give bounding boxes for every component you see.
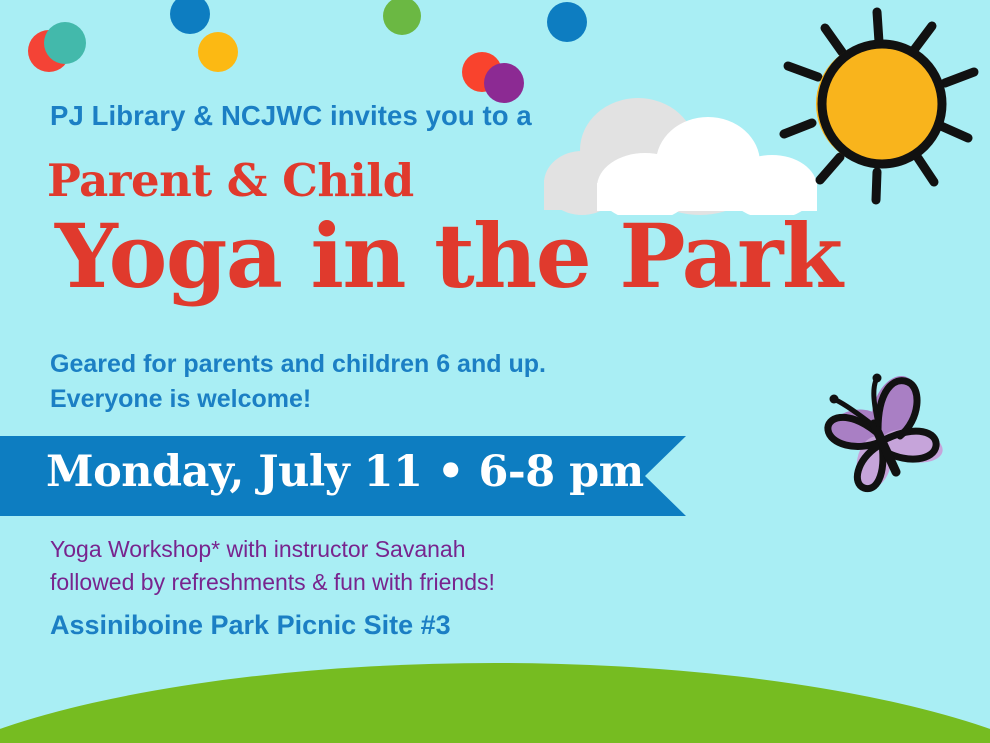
dot-yellow-top — [198, 32, 238, 72]
butterfly-illustration — [812, 368, 964, 502]
dot-purple-mid — [484, 63, 524, 103]
dot-blue-top-1 — [170, 0, 210, 34]
dot-blue-top-2 — [547, 2, 587, 42]
grass-hill — [0, 663, 990, 743]
invite-line: PJ Library & NCJWC invites you to a — [50, 100, 532, 132]
workshop-description: Yoga Workshop* with instructor Savanah f… — [50, 533, 495, 598]
title-line-1: Parent & Child — [47, 154, 414, 207]
audience-note: Geared for parents and children 6 and up… — [50, 347, 546, 416]
date-time-text: Monday, July 11 • 6-8 pm — [46, 447, 644, 497]
sun-illustration — [762, 0, 990, 206]
dot-green-top — [383, 0, 421, 35]
event-flyer: PJ Library & NCJWC invites you to a Pare… — [0, 0, 990, 743]
venue-location: Assiniboine Park Picnic Site #3 — [50, 610, 451, 641]
dot-teal-topleft — [44, 22, 86, 64]
page-title: Yoga in the Park — [55, 212, 842, 300]
